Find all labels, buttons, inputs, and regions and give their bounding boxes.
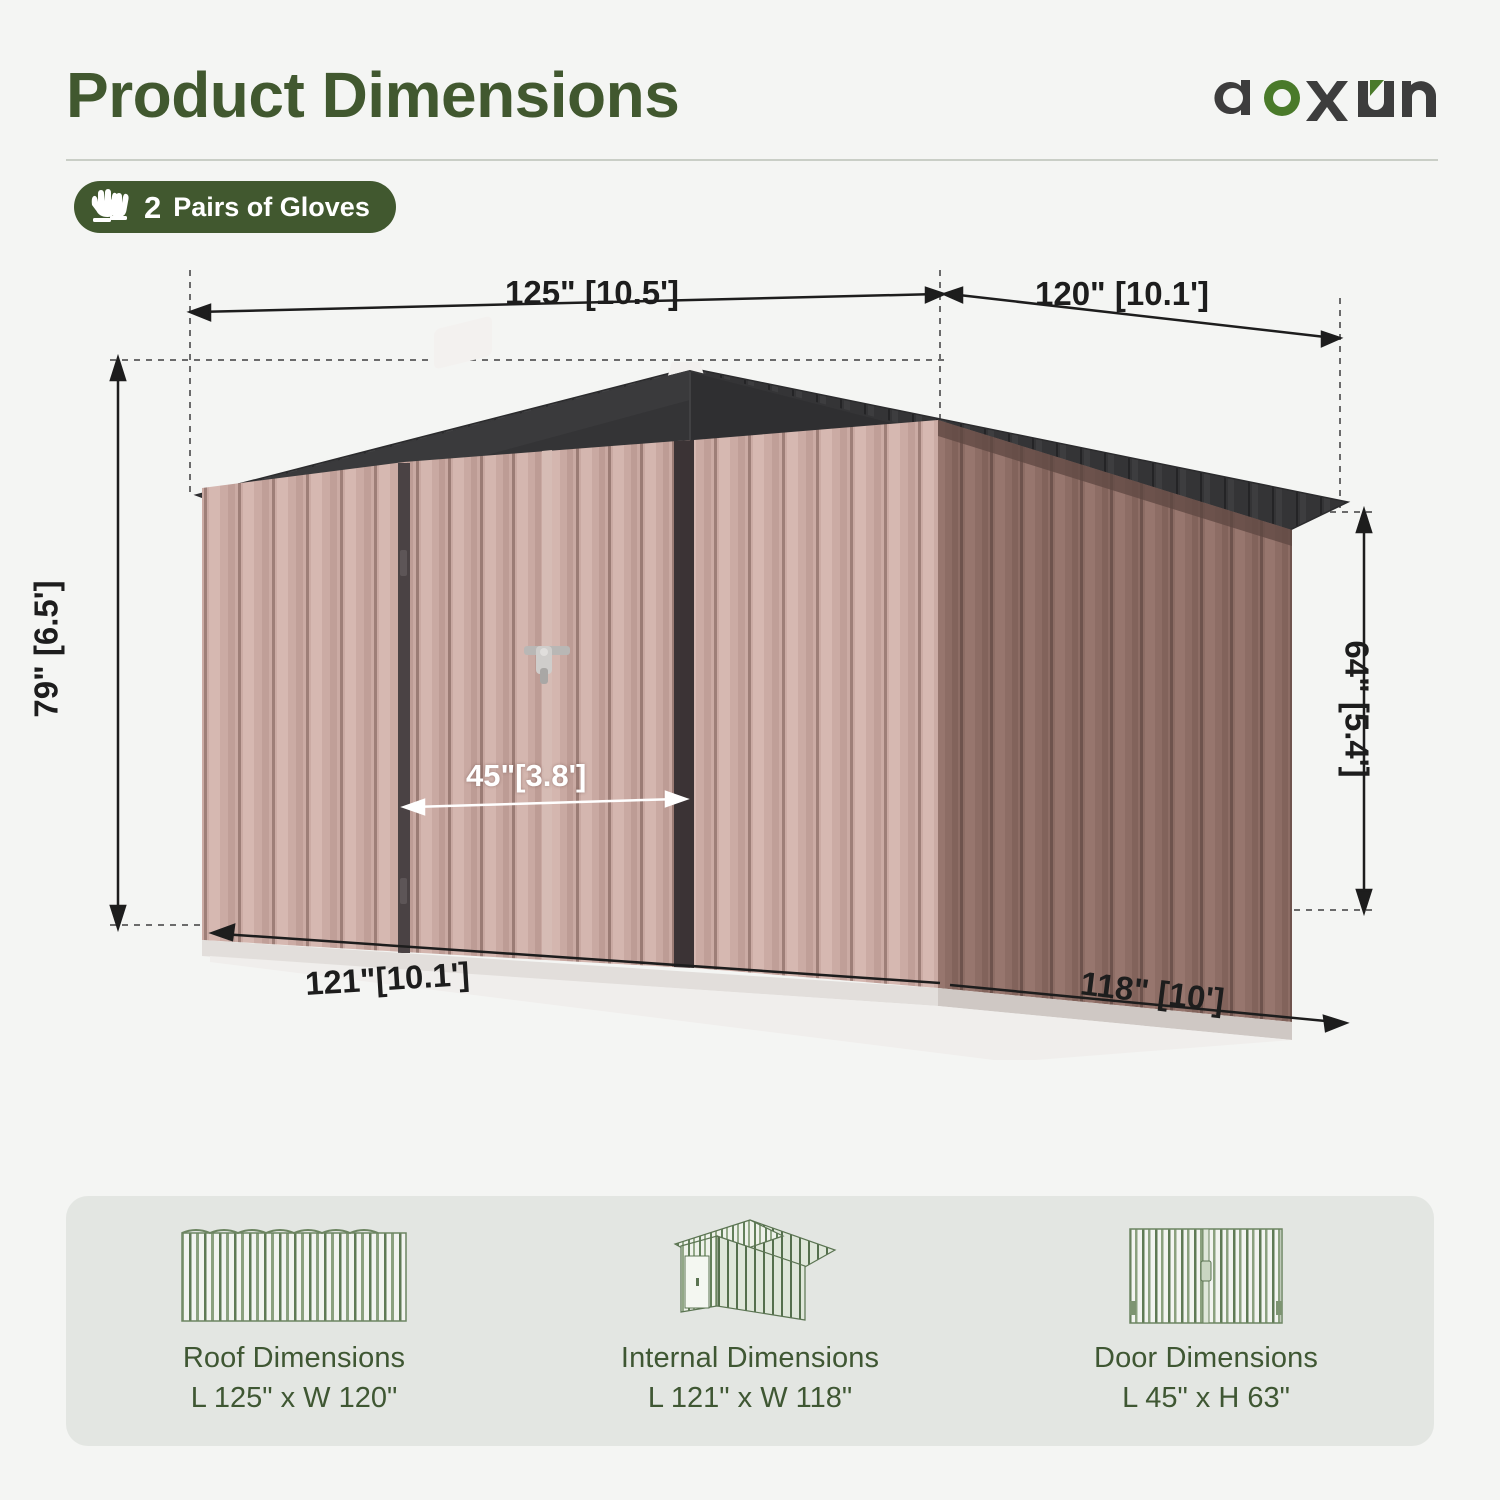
dimension-label-roof-width: 120" [10.1'] bbox=[1035, 275, 1209, 313]
gloves-label: Pairs of Gloves bbox=[173, 194, 370, 221]
dimension-label-door-width: 45"[3.8'] bbox=[466, 758, 586, 794]
summary-cell-door: Door Dimensions L 45" x H 63" bbox=[978, 1196, 1434, 1446]
summary-value-internal: L 121" x W 118" bbox=[648, 1382, 852, 1415]
summary-value-door: L 45" x H 63" bbox=[1122, 1382, 1290, 1415]
gloves-icon bbox=[88, 189, 132, 225]
dimension-label-wall-height: 64" [5.4'] bbox=[1338, 640, 1376, 777]
shed-3d-icon bbox=[655, 1218, 845, 1328]
shed-diagram: 125" [10.5'] 120" [10.1'] 79" [6.5'] 64"… bbox=[0, 250, 1500, 1060]
product-dimensions-page: Product Dimensions bbox=[0, 0, 1500, 1500]
summary-title-internal: Internal Dimensions bbox=[621, 1342, 879, 1375]
summary-cell-internal: Internal Dimensions L 121" x W 118" bbox=[522, 1196, 978, 1446]
summary-title-roof: Roof Dimensions bbox=[183, 1342, 405, 1375]
left-dimension-line bbox=[111, 358, 125, 928]
page-header: Product Dimensions bbox=[0, 0, 1500, 170]
summary-cell-roof: Roof Dimensions L 125" x W 120" bbox=[66, 1196, 522, 1446]
double-door-icon bbox=[1116, 1218, 1296, 1328]
gloves-badge: 2 Pairs of Gloves bbox=[74, 181, 396, 233]
page-title: Product Dimensions bbox=[66, 58, 679, 132]
brand-logo bbox=[1208, 66, 1438, 130]
roof-vent-left bbox=[434, 315, 492, 369]
dimension-label-peak-height: 79" [6.5'] bbox=[28, 580, 66, 717]
summary-title-door: Door Dimensions bbox=[1094, 1342, 1318, 1375]
dimensions-summary-panel: Roof Dimensions L 125" x W 120" bbox=[66, 1196, 1434, 1446]
dimension-label-roof-length: 125" [10.5'] bbox=[505, 274, 679, 312]
aoxun-logo-icon bbox=[1208, 66, 1438, 130]
gloves-count: 2 bbox=[144, 192, 161, 223]
shed-illustration bbox=[0, 250, 1500, 1060]
header-divider bbox=[66, 159, 1438, 161]
roof-panel-icon bbox=[174, 1218, 414, 1328]
summary-value-roof: L 125" x W 120" bbox=[191, 1382, 398, 1415]
